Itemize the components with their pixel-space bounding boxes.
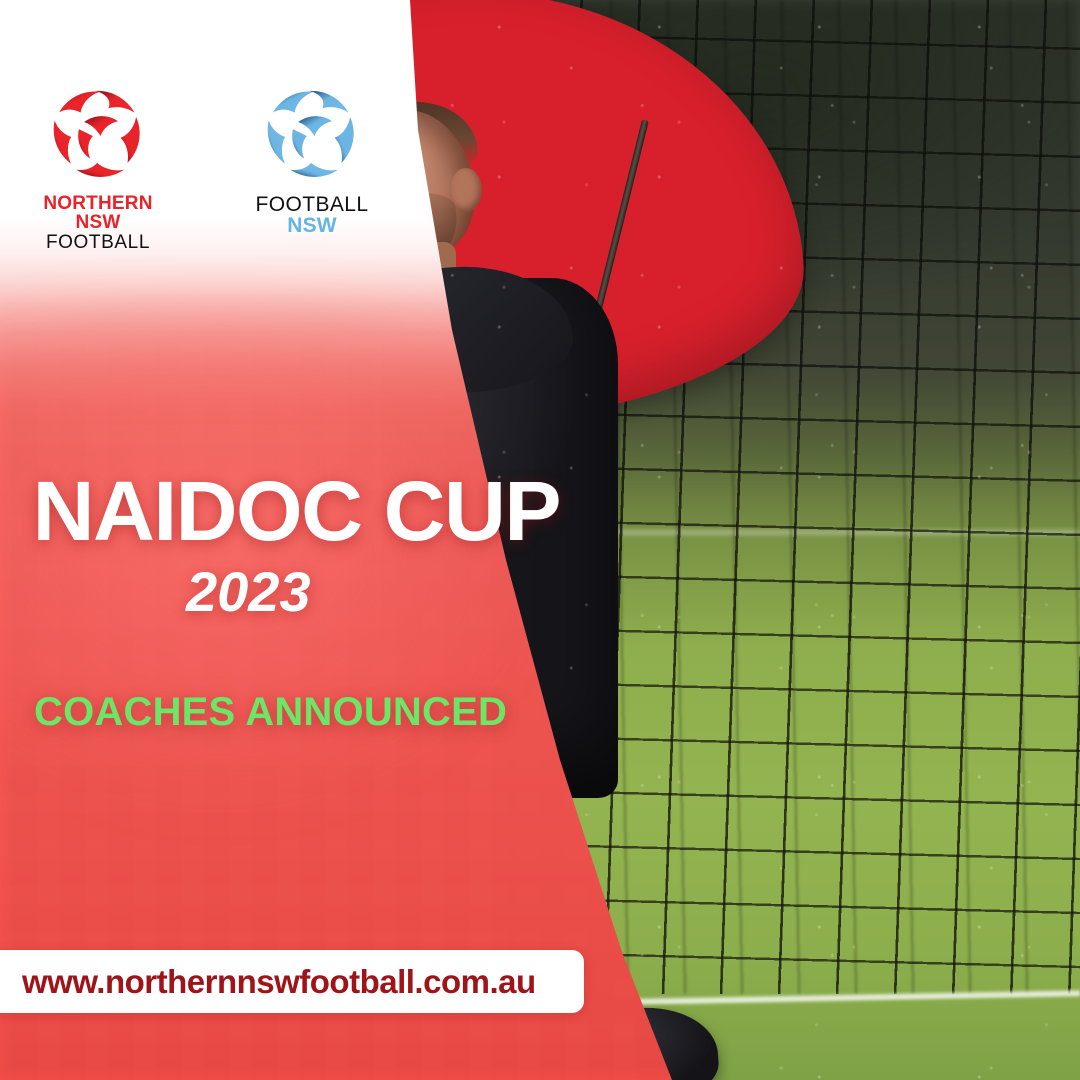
logo-line-football: FOOTBALL <box>23 233 173 252</box>
logo-line-northern: NORTHERN <box>23 194 173 213</box>
logo-northern-nsw-football: NORTHERN NSW FOOTBALL <box>23 84 173 252</box>
event-subtitle: COACHES ANNOUNCED <box>0 692 560 732</box>
logo-line-football: FOOTBALL <box>237 194 387 215</box>
website-url-text: www.northernnswfootball.com.au <box>0 963 536 1001</box>
football-ribbon-ball-icon <box>46 84 150 188</box>
event-title: NAIDOC CUP <box>0 470 571 552</box>
logo-lockup: NORTHERN NSW FOOTBALL <box>0 84 410 252</box>
logo-football-nsw: FOOTBALL NSW <box>237 84 387 252</box>
logo-line-nsw: NSW <box>23 213 173 232</box>
headline-block: NAIDOC CUP 2023 COACHES ANNOUNCED <box>0 470 560 732</box>
naidoc-cup-poster: NORTHERN NSW FOOTBALL <box>0 0 1080 1080</box>
website-url-bar[interactable]: www.northernnswfootball.com.au <box>0 950 584 1013</box>
logo-line-nsw: NSW <box>237 215 387 236</box>
event-year: 2023 <box>0 564 560 620</box>
football-ribbon-ball-icon <box>260 84 364 188</box>
